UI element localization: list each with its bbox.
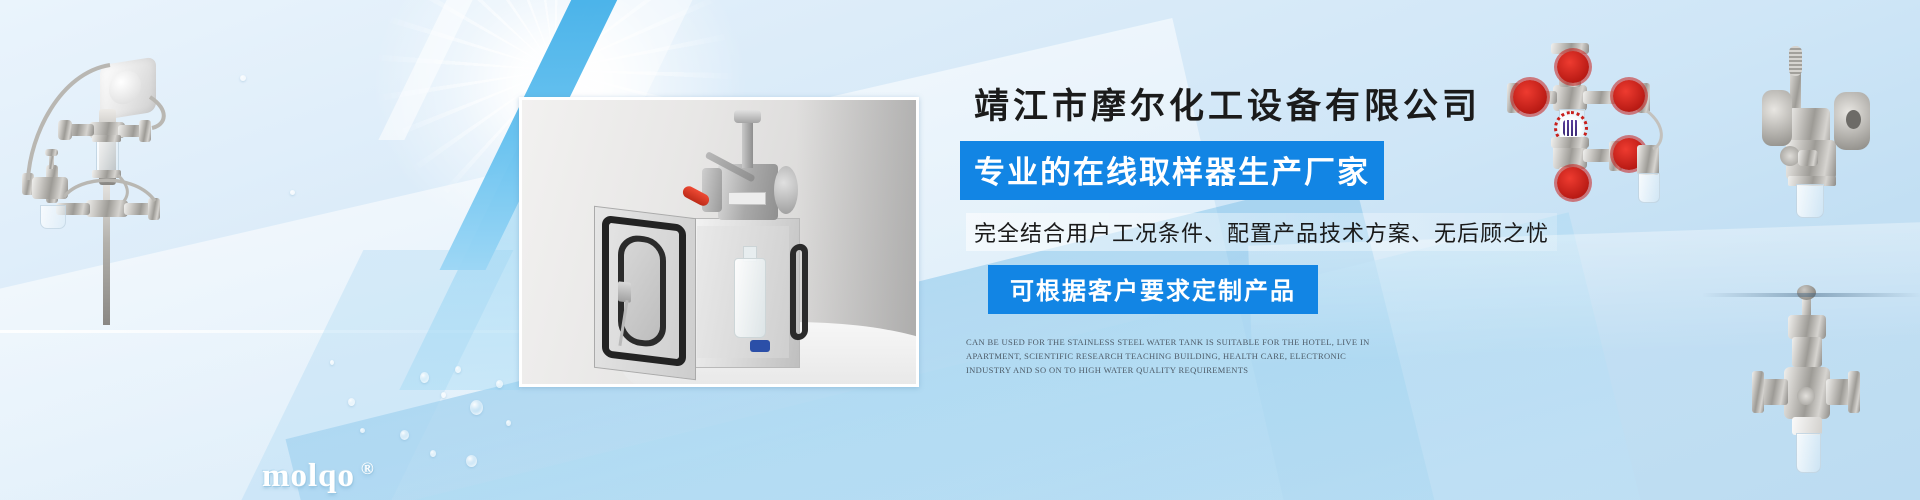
- handle-grip: [1789, 46, 1802, 76]
- sample-bottle: [1796, 184, 1824, 218]
- tubing: [0, 25, 200, 325]
- nameplate: [1797, 387, 1815, 405]
- water-droplet: [360, 428, 365, 433]
- valve-knob: [734, 110, 761, 123]
- company-title: 靖江市摩尔化工设备有限公司: [974, 78, 1520, 129]
- diagonal-stripe: [378, 0, 511, 140]
- water-droplet: [496, 380, 503, 388]
- side-port: [1798, 150, 1818, 166]
- subheadline: 完全结合用户工况条件、配置产品技术方案、无后顾之忧: [966, 213, 1557, 251]
- cabinet-side-handle: [790, 243, 808, 341]
- flange-left: [1762, 90, 1792, 146]
- water-droplet: [400, 430, 409, 440]
- sample-bottle: [734, 258, 766, 338]
- product-photo: [519, 97, 919, 387]
- water-droplet: [290, 190, 295, 195]
- water-droplet: [441, 392, 446, 398]
- water-droplet: [420, 372, 429, 383]
- english-description: CAN BE USED FOR THE STAINLESS STEEL WATE…: [966, 335, 1374, 377]
- sample-bottle: [1796, 433, 1821, 473]
- valve-stem: [742, 120, 753, 168]
- sample-bottle: [40, 205, 66, 229]
- bonnet: [1788, 315, 1826, 339]
- water-droplet: [470, 400, 483, 415]
- brand-watermark: molqo®: [262, 458, 375, 495]
- right-bottom-valve-render: [1742, 275, 1920, 480]
- banner-text-block: 靖江市摩尔化工设备有限公司 专业的在线取样器生产厂家 完全结合用户工况条件、配置…: [960, 78, 1520, 385]
- nameplate: [1780, 146, 1800, 166]
- right-mid-valve-render: [1730, 28, 1920, 208]
- flange-right: [1848, 371, 1860, 413]
- water-droplet: [506, 420, 511, 426]
- bonnet-collar: [1792, 337, 1822, 367]
- promo-banner: 靖江市摩尔化工设备有限公司 专业的在线取样器生产厂家 完全结合用户工况条件、配置…: [0, 0, 1920, 500]
- water-droplet: [330, 360, 334, 365]
- water-droplet: [455, 366, 461, 373]
- flange-left: [1752, 371, 1764, 413]
- left-sampler-render: [0, 25, 200, 325]
- blue-bottle-cap: [750, 340, 770, 352]
- valve-nameplate: [728, 192, 766, 205]
- registered-trademark-icon: ®: [361, 459, 375, 478]
- valve-flange-right: [774, 166, 798, 214]
- door-lock: [618, 281, 631, 303]
- flange-bore: [1846, 110, 1861, 129]
- water-droplet: [240, 75, 246, 81]
- water-droplet: [466, 455, 477, 467]
- diagonal-stripe: [554, 0, 737, 100]
- cta-highlight: 可根据客户要求定制产品: [988, 265, 1318, 314]
- water-droplet: [430, 450, 436, 457]
- headline-highlight: 专业的在线取样器生产厂家: [960, 141, 1384, 200]
- watermark-text: molqo: [262, 458, 355, 494]
- shadow-streak: [1702, 293, 1920, 297]
- water-droplet: [348, 398, 355, 406]
